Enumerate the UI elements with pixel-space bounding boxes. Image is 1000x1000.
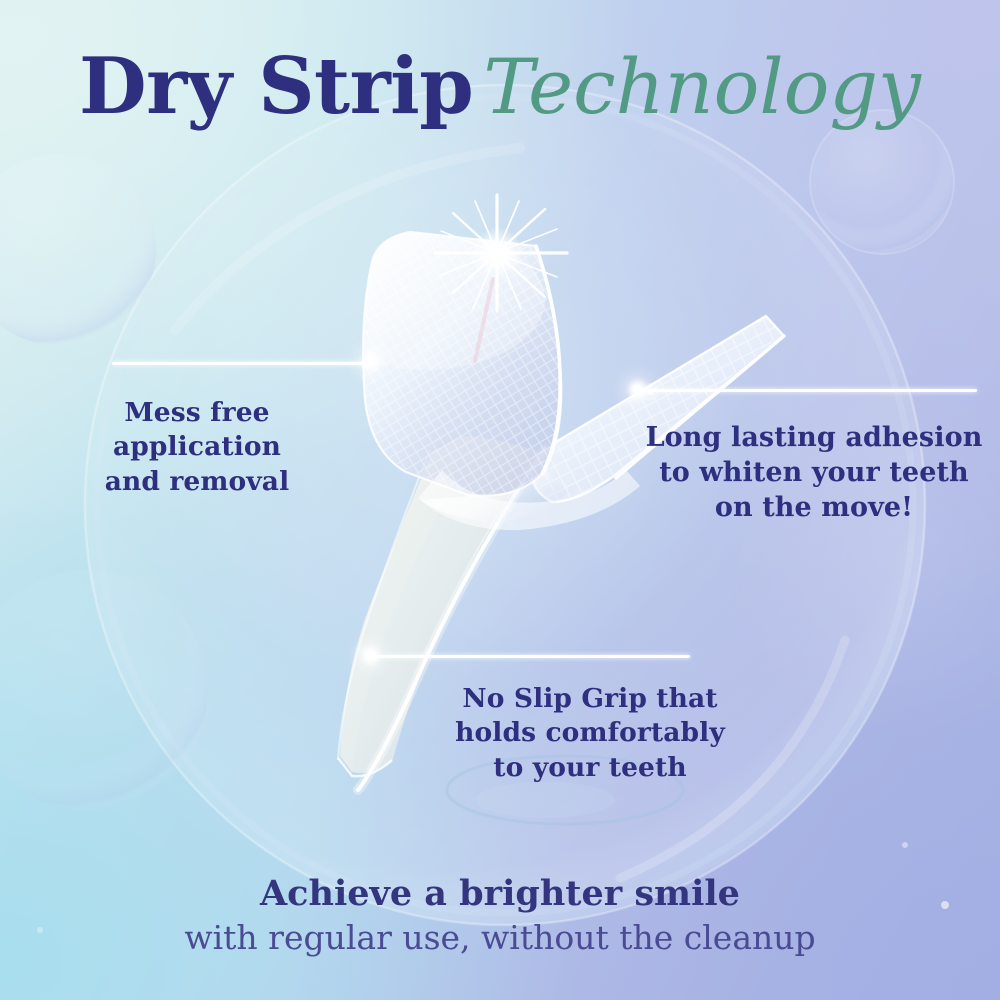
callout-line: No Slip Grip that [440,682,740,716]
poster-canvas: Dry StripTechnology Mess free applicatio… [0,0,1000,1000]
tagline: Achieve a brighter smile with regular us… [0,872,1000,959]
callout-line: application [52,430,342,464]
page-title: Dry StripTechnology [0,48,1000,126]
leader-line-long-lasting-adhesion [637,389,977,392]
title-primary: Dry Strip [79,41,473,132]
strip-flap [305,210,640,530]
leader-line-mess-free [112,362,370,365]
leader-dot-no-slip-grip [366,651,375,660]
callout-line: and removal [52,465,342,499]
callout-line: Mess free [52,396,342,430]
sparkle-starburst [435,195,567,361]
callout-mess-free: Mess free application and removal [52,396,342,499]
callout-line: to whiten your teeth [640,455,988,490]
tagline-line-2: with regular use, without the cleanup [0,917,1000,959]
tagline-line-1: Achieve a brighter smile [0,872,1000,917]
leader-dot-mess-free [366,357,375,366]
callout-line: Long lasting adhesion [640,420,988,455]
callout-no-slip-grip: No Slip Grip that holds comfortably to y… [440,682,740,785]
callout-line: on the move! [640,490,988,525]
callout-line: to your teeth [440,751,740,785]
leader-line-no-slip-grip [370,655,690,658]
leader-dot-long-lasting-adhesion [633,385,642,394]
title-secondary: Technology [483,42,921,131]
callout-long-lasting-adhesion: Long lasting adhesion to whiten your tee… [640,420,988,525]
callout-line: holds comfortably [440,716,740,750]
